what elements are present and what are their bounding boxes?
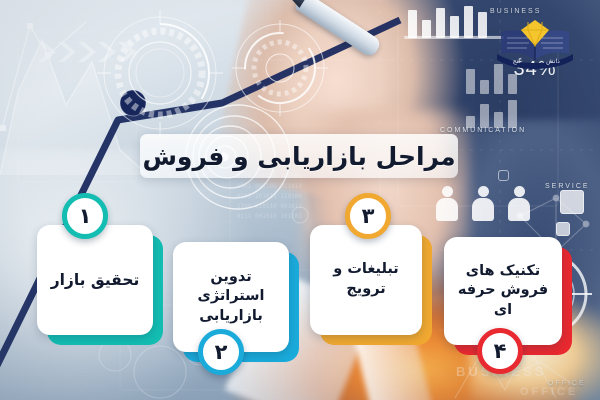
brand-logo[interactable]: گنج دانش [495, 16, 575, 72]
step-card-3-label: تبلیغات و ترویج [317, 260, 415, 299]
step-badge-4-number: ۴ [494, 341, 507, 362]
step-card-3[interactable]: تبلیغات و ترویج [310, 225, 422, 335]
step-card-1-label: تحقیق بازار [51, 270, 140, 291]
step-badge-2-number: ۲ [215, 342, 228, 363]
step-card-1-surface[interactable]: تحقیق بازار [37, 225, 153, 335]
step-card-2-label: تدوین استراتژی بازاریابی [180, 268, 282, 327]
step-badge-4[interactable]: ۴ [477, 328, 523, 374]
page-title-banner: مراحل بازاریابی و فروش [140, 134, 458, 178]
step-badge-3-number: ۳ [362, 206, 375, 227]
logo-caption-left: گنج [513, 57, 522, 65]
infographic-canvas: 101001 110101 0110 011010 001101 1001 11… [0, 0, 600, 400]
step-badge-1[interactable]: ۱ [62, 193, 108, 239]
page-title: مراحل بازاریابی و فروش [142, 142, 455, 171]
step-card-1[interactable]: تحقیق بازار [37, 225, 153, 335]
step-badge-2[interactable]: ۲ [198, 329, 244, 375]
step-card-3-surface[interactable]: تبلیغات و ترویج [310, 225, 422, 335]
step-badge-1-number: ۱ [79, 206, 92, 227]
step-badge-3[interactable]: ۳ [345, 193, 391, 239]
step-card-4-label: تکنیک های فروش حرفه ای [451, 262, 555, 321]
logo-caption-right: دانش [546, 58, 560, 65]
